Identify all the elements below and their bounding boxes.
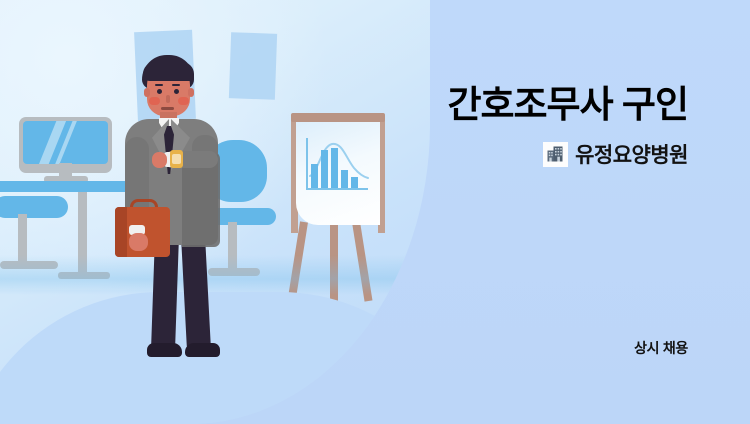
- company-row: 유정요양병원: [543, 139, 688, 169]
- chart-bar: [351, 177, 358, 188]
- hand-right: [152, 152, 167, 168]
- cheek-right: [178, 97, 189, 105]
- mouth: [161, 107, 174, 110]
- cheek-left: [149, 97, 160, 105]
- office-building-icon: [543, 142, 568, 167]
- job-posting-banner: 간호조무사 구인: [0, 0, 750, 424]
- chart-bar: [331, 148, 338, 188]
- shoe-right: [185, 343, 220, 357]
- eye-right: [174, 89, 179, 94]
- briefcase-side: [115, 207, 127, 257]
- chart-x-axis: [306, 188, 368, 190]
- page-title: 간호조무사 구인: [447, 74, 688, 128]
- chart-bar-group: [311, 142, 358, 188]
- chart-bar: [311, 164, 318, 188]
- eye-left: [157, 89, 162, 94]
- ear-left: [144, 88, 150, 97]
- chart-bar: [321, 150, 328, 188]
- eyebrow-left: [155, 84, 163, 86]
- eyebrow-right: [172, 84, 180, 86]
- nose: [166, 95, 170, 103]
- banner-content: 간호조무사 구인: [380, 0, 750, 424]
- illustration-panel: [0, 0, 430, 424]
- ear-right: [188, 88, 194, 97]
- easel-top-bar: [291, 113, 385, 122]
- hand-left: [129, 233, 148, 251]
- businessman: [108, 55, 258, 365]
- company-name: 유정요양병원: [575, 139, 688, 169]
- leg-right: [181, 236, 211, 349]
- office-chair-left-seat: [0, 196, 68, 218]
- status-badge: 상시 채용: [634, 338, 688, 358]
- chart-bar: [341, 170, 348, 188]
- hair-front: [143, 62, 194, 81]
- flipchart-bar-chart: [306, 138, 370, 196]
- wristwatch-face: [172, 154, 181, 164]
- monitor-screen: [23, 121, 108, 164]
- shoe-left: [147, 343, 182, 357]
